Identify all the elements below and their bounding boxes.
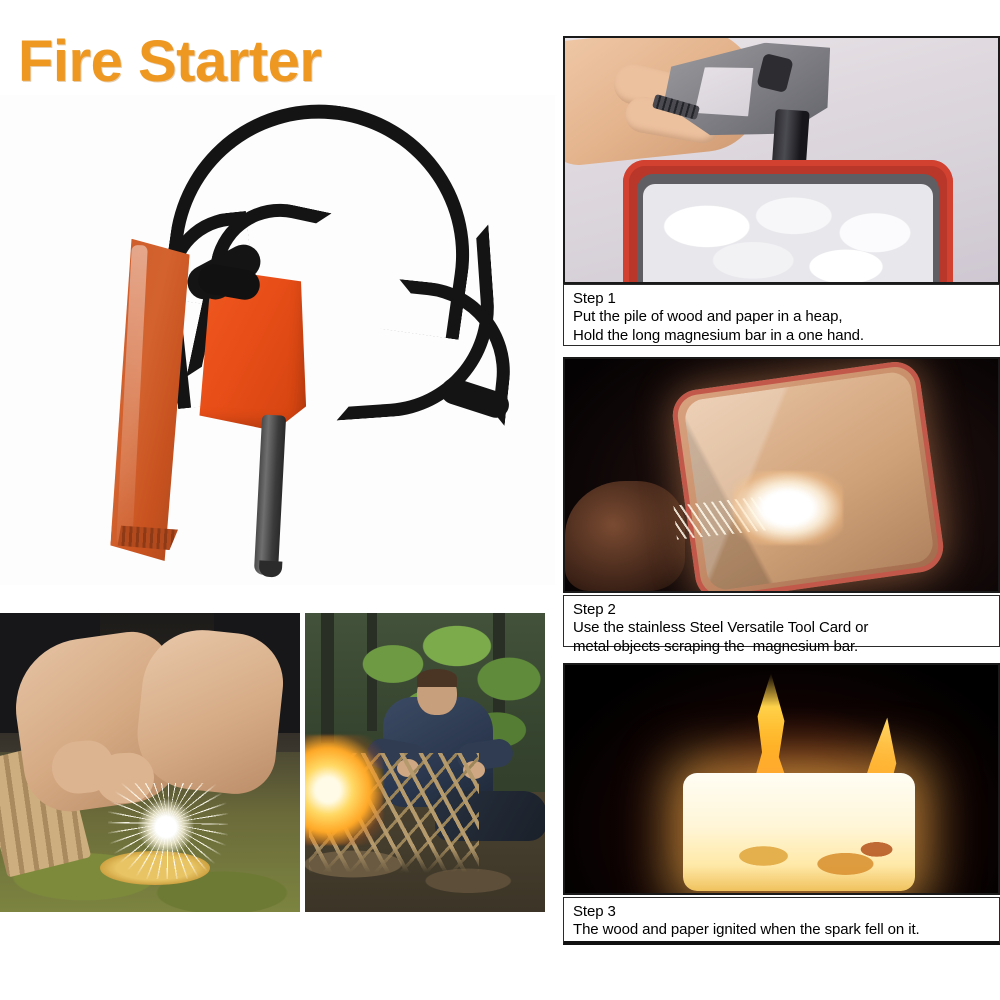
step-1-line-2: Hold the long magnesium bar in a one han… [573, 327, 999, 345]
step-3-line-1: The wood and paper ignited when the spar… [573, 921, 999, 939]
crumpled-paper-pile [643, 184, 933, 284]
step-1-label: Step 1 [573, 290, 999, 308]
fire-starter-product-photo [0, 95, 555, 585]
infographic-canvas: Fire Starter Step 1 Put [0, 0, 1000, 1000]
step-2-label: Step 2 [573, 601, 999, 619]
page-title: Fire Starter [18, 28, 321, 95]
burning-embers [705, 823, 900, 889]
step-3-label: Step 3 [573, 903, 999, 921]
step-2-line-2: metal objects scraping the magnesium bar… [573, 638, 999, 656]
step-3-caption: Step 3 The wood and paper ignited when t… [563, 897, 1000, 945]
step-2-hand-silhouette [565, 481, 685, 591]
spark-flash [733, 471, 843, 545]
step-2-photo [563, 357, 1000, 593]
campfire-flame [305, 735, 383, 845]
step-3-photo [563, 663, 1000, 895]
step-1-photo [563, 36, 1000, 284]
step-2-line-1: Use the stainless Steel Versatile Tool C… [573, 619, 999, 637]
right-hand [132, 624, 288, 798]
person-hair [417, 669, 457, 687]
step-2-caption: Step 2 Use the stainless Steel Versatile… [563, 595, 1000, 647]
bottom-photo-campfire [305, 613, 545, 912]
step-1-caption: Step 1 Put the pile of wood and paper in… [563, 284, 1000, 346]
tree-trunk [321, 613, 334, 743]
spark-core [138, 799, 194, 855]
step-1-line-1: Put the pile of wood and paper in a heap… [573, 308, 999, 326]
bottom-photo-sparks [0, 613, 300, 912]
